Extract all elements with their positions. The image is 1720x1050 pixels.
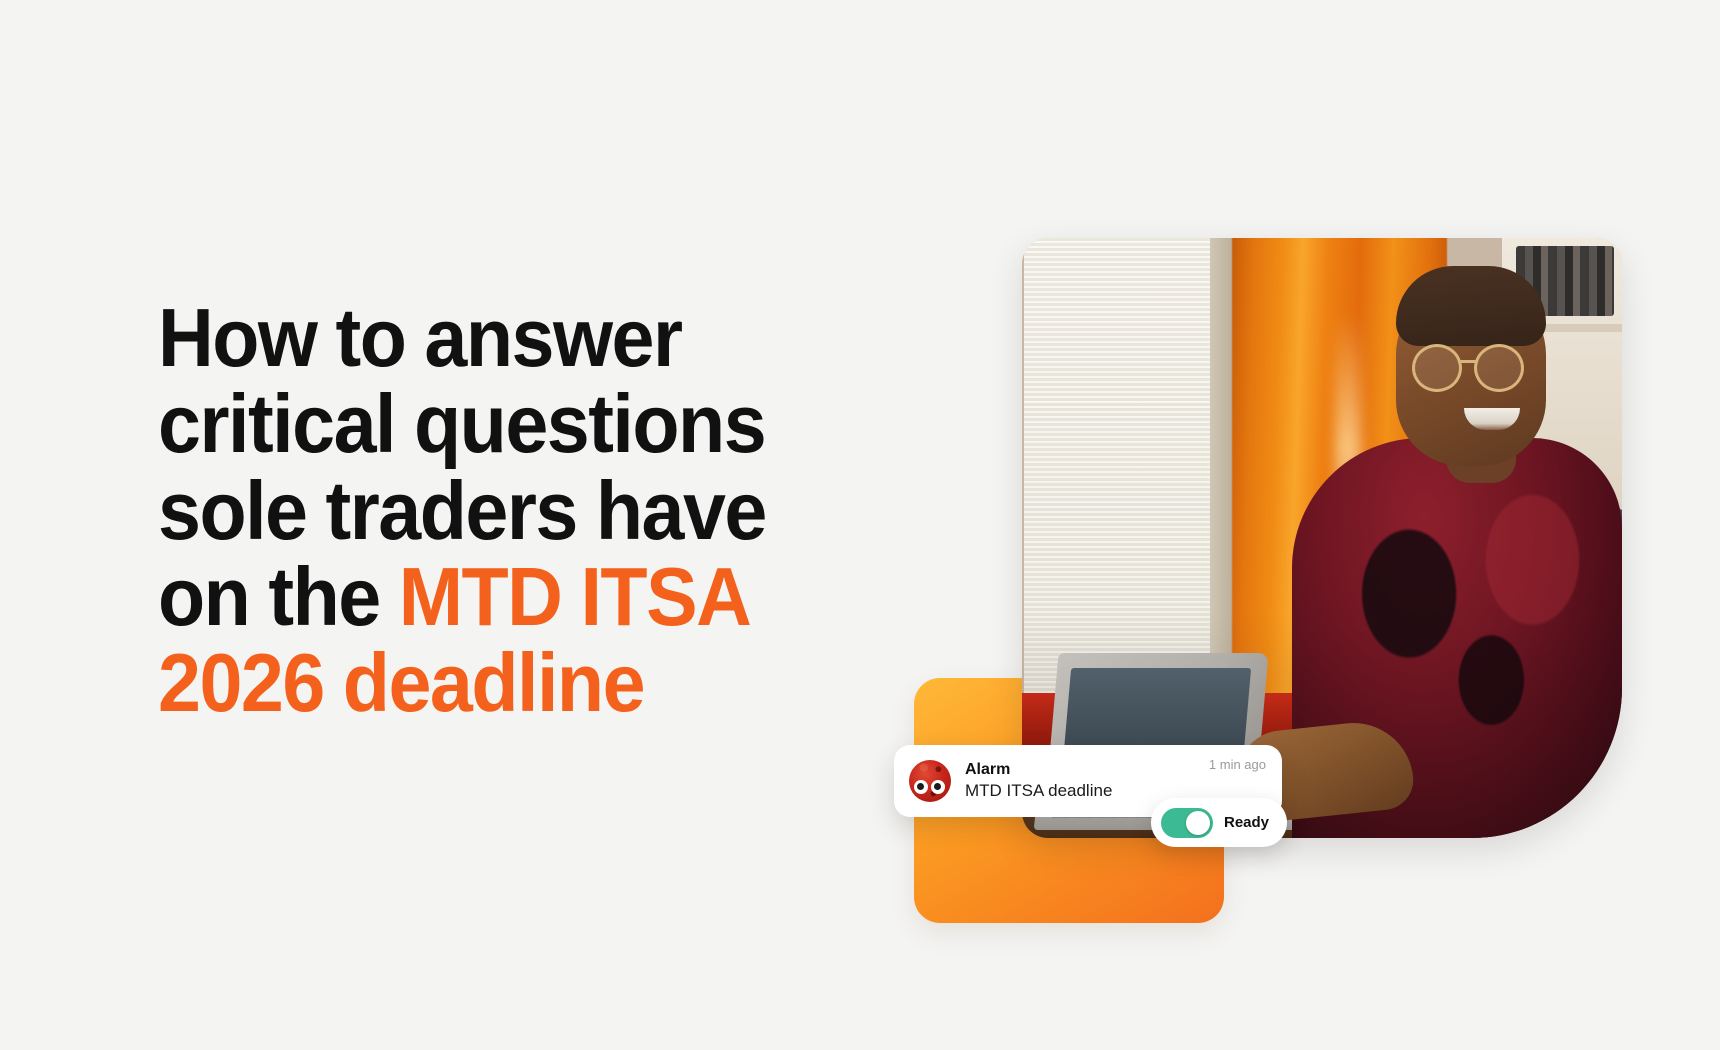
headline-line-5-accent: 2026 deadline (158, 636, 644, 729)
avatar-eye-right (931, 780, 945, 794)
glasses-lens-left (1412, 344, 1462, 392)
toggle-knob (1186, 811, 1210, 835)
notification-timestamp: 1 min ago (1209, 757, 1266, 772)
scene-window-frame (1210, 238, 1232, 708)
page-title: How to answer critical questions sole tr… (158, 295, 772, 727)
angry-face-icon (909, 760, 951, 802)
headline-line-2: critical questions (158, 377, 765, 470)
headline-line-4-plain: on the (158, 550, 399, 643)
headline-line-4-accent: MTD ITSA (399, 550, 751, 643)
notification-title: Alarm (965, 760, 1209, 780)
headline-line-1: How to answer (158, 291, 682, 384)
notification-text: Alarm MTD ITSA deadline (965, 760, 1209, 802)
page-canvas: How to answer critical questions sole tr… (0, 0, 1720, 1050)
scene-window (1024, 238, 1224, 708)
ready-toggle-label: Ready (1224, 814, 1269, 831)
headline-line-3: sole traders have (158, 464, 766, 557)
avatar-eye-left (914, 780, 928, 794)
glasses-icon (1408, 344, 1538, 386)
person-hair (1396, 266, 1546, 346)
ready-toggle-switch[interactable] (1161, 808, 1213, 838)
headline-block: How to answer critical questions sole tr… (158, 295, 818, 727)
ready-toggle-pill[interactable]: Ready (1151, 798, 1287, 847)
glasses-lens-right (1474, 344, 1524, 392)
glasses-bridge (1458, 360, 1476, 363)
